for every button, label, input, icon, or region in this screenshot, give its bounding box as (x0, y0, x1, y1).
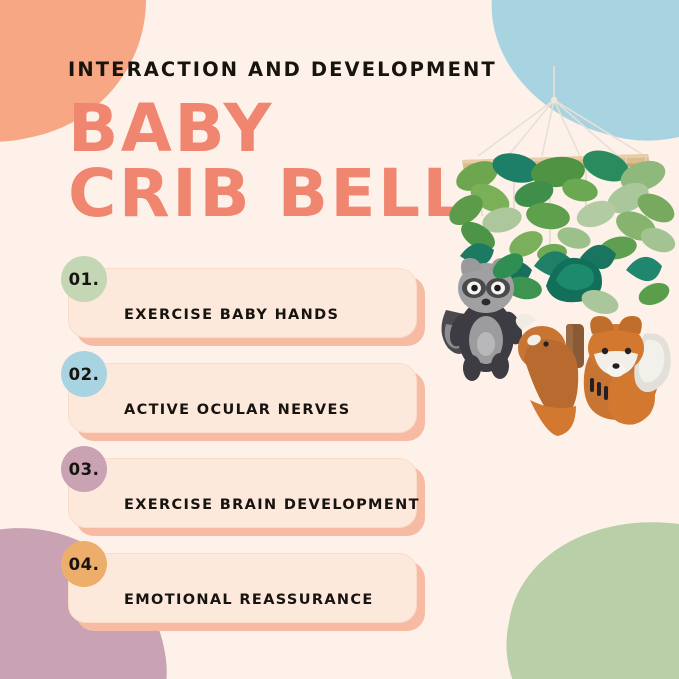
feature-label: EXERCISE BRAIN DEVELOPMENT (124, 497, 420, 513)
page-title: BABY CRIB BELL (68, 97, 468, 226)
eyebrow-text: INTERACTION AND DEVELOPMENT (68, 58, 488, 81)
feature-label: EXERCISE BABY HANDS (124, 307, 339, 323)
feature-badge-01: 01. (61, 256, 107, 302)
list-item[interactable]: 01. EXERCISE BABY HANDS (68, 268, 425, 346)
list-item[interactable]: 02. ACTIVE OCULAR NERVES (68, 363, 425, 441)
poster-header: INTERACTION AND DEVELOPMENT BABY CRIB BE… (68, 58, 488, 226)
feature-card[interactable] (68, 553, 417, 623)
feature-card[interactable] (68, 268, 417, 338)
felt-fox-ornament-large (584, 316, 671, 425)
blob-bottom-right-decoration (487, 498, 679, 679)
product-image-crib-mobile (430, 48, 679, 443)
feature-label: ACTIVE OCULAR NERVES (124, 402, 351, 418)
feature-label: EMOTIONAL REASSURANCE (124, 592, 374, 608)
hanging-strings (478, 66, 645, 156)
string-knot (551, 97, 557, 103)
feature-card[interactable] (68, 458, 417, 528)
feature-card[interactable] (68, 363, 417, 433)
list-item[interactable]: 04. EMOTIONAL REASSURANCE (68, 553, 425, 631)
list-item[interactable]: 03. EXERCISE BRAIN DEVELOPMENT (68, 458, 425, 536)
feature-badge-03: 03. (61, 446, 107, 492)
feature-badge-04: 04. (61, 541, 107, 587)
feature-badge-02: 02. (61, 351, 107, 397)
feature-list: 01. EXERCISE BABY HANDS 02. ACTIVE OCULA… (68, 268, 425, 631)
poster-canvas: INTERACTION AND DEVELOPMENT BABY CRIB BE… (0, 0, 679, 679)
